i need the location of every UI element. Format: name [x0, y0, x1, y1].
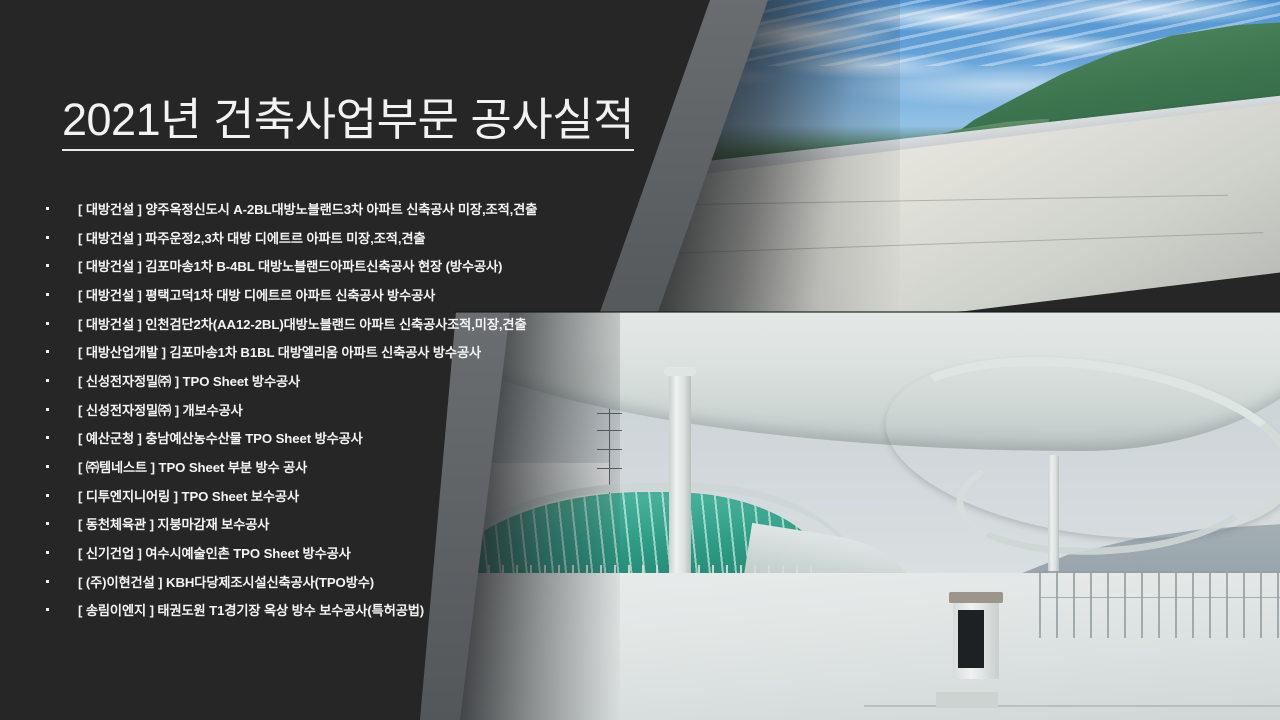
list-item: [ 디투엔지니어링 ] TPO Sheet 보수공사 [0, 481, 620, 510]
hvac-outdoor-unit [953, 601, 999, 679]
list-item-label: [ 신기건업 ] 여수시예술인촌 TPO Sheet 방수공사 [78, 543, 351, 562]
content-panel: 2021년 건축사업부문 공사실적 [ 대방건설 ] 양주옥정신도시 A-2BL… [0, 0, 640, 720]
list-item-label: [ 대방건설 ] 인천검단2차(AA12-2BL)대방노블랜드 아파트 신축공사… [78, 314, 526, 333]
bullet-marker-icon [46, 436, 49, 439]
bullet-marker-icon [46, 264, 49, 267]
list-item-label: [ 신성전자정밀㈜ ] TPO Sheet 방수공사 [78, 371, 300, 390]
list-item: [ 송림이엔지 ] 태권도원 T1경기장 옥상 방수 보수공사(특허공법) [0, 596, 620, 625]
bullet-marker-icon [46, 494, 49, 497]
list-item: [ 신성전자정밀㈜ ] TPO Sheet 방수공사 [0, 366, 620, 395]
deck-railing [1039, 571, 1280, 638]
list-item: [ 동천체육관 ] 지붕마감재 보수공사 [0, 510, 620, 539]
list-item-label: [ 송림이엔지 ] 태권도원 T1경기장 옥상 방수 보수공사(특허공법) [78, 600, 424, 619]
bullet-marker-icon [46, 379, 49, 382]
hvac-concrete-base [936, 692, 998, 708]
hvac-grille [958, 610, 984, 668]
list-item-label: [ 대방건설 ] 양주옥정신도시 A-2BL대방노블랜드3차 아파트 신축공사 … [78, 199, 537, 218]
list-item-label: [ (주)이현건설 ] KBH다당제조시설신축공사(TPO방수) [78, 572, 374, 591]
presentation-slide: 2021년 건축사업부문 공사실적 [ 대방건설 ] 양주옥정신도시 A-2BL… [0, 0, 1280, 720]
page-title: 2021년 건축사업부문 공사실적 [62, 96, 634, 151]
list-item-label: [ 대방산업개발 ] 김포마송1차 B1BL 대방엘리움 아파트 신축공사 방수… [78, 342, 481, 361]
bullet-marker-icon [46, 408, 49, 411]
bullet-marker-icon [46, 522, 49, 525]
hvac-cover [949, 592, 1003, 603]
list-item: [ 예산군청 ] 충남예산농수산물 TPO Sheet 방수공사 [0, 424, 620, 453]
list-item: [ 대방건설 ] 양주옥정신도시 A-2BL대방노블랜드3차 아파트 신축공사 … [0, 194, 620, 223]
list-item: [ ㈜템네스트 ] TPO Sheet 부분 방수 공사 [0, 452, 620, 481]
bullet-marker-icon [46, 465, 49, 468]
list-item: [ 대방건설 ] 인천검단2차(AA12-2BL)대방노블랜드 아파트 신축공사… [0, 309, 620, 338]
list-item-label: [ 예산군청 ] 충남예산농수산물 TPO Sheet 방수공사 [78, 428, 363, 447]
list-item-label: [ 신성전자정밀㈜ ] 개보수공사 [78, 400, 243, 419]
list-item: [ 신성전자정밀㈜ ] 개보수공사 [0, 395, 620, 424]
list-item: [ 대방산업개발 ] 김포마송1차 B1BL 대방엘리움 아파트 신축공사 방수… [0, 337, 620, 366]
bullet-marker-icon [46, 293, 49, 296]
list-item-label: [ 대방건설 ] 김포마송1차 B-4BL 대방노블랜드아파트신축공사 현장 (… [78, 256, 502, 275]
bullet-marker-icon [46, 236, 49, 239]
project-list: [ 대방건설 ] 양주옥정신도시 A-2BL대방노블랜드3차 아파트 신축공사 … [0, 194, 620, 624]
deck-seam [864, 705, 1280, 707]
list-item: [ 대방건설 ] 김포마송1차 B-4BL 대방노블랜드아파트신축공사 현장 (… [0, 251, 620, 280]
list-item-label: [ ㈜템네스트 ] TPO Sheet 부분 방수 공사 [78, 457, 307, 476]
list-item: [ 신기건업 ] 여수시예술인촌 TPO Sheet 방수공사 [0, 538, 620, 567]
list-item-label: [ 대방건설 ] 평택고덕1차 대방 디에트르 아파트 신축공사 방수공사 [78, 285, 435, 304]
bullet-marker-icon [46, 322, 49, 325]
bullet-marker-icon [46, 207, 49, 210]
list-item-label: [ 대방건설 ] 파주운정2,3차 대방 디에트르 아파트 미장,조적,견출 [78, 228, 425, 247]
list-item-label: [ 동천체육관 ] 지붕마감재 보수공사 [78, 514, 269, 533]
bullet-marker-icon [46, 608, 49, 611]
bullet-marker-icon [46, 580, 49, 583]
list-item: [ 대방건설 ] 평택고덕1차 대방 디에트르 아파트 신축공사 방수공사 [0, 280, 620, 309]
bullet-marker-icon [46, 350, 49, 353]
column-capital [664, 367, 696, 376]
list-item: [ (주)이현건설 ] KBH다당제조시설신축공사(TPO방수) [0, 567, 620, 596]
deck-railing-top-rail [1039, 597, 1280, 598]
list-item: [ 대방건설 ] 파주운정2,3차 대방 디에트르 아파트 미장,조적,견출 [0, 223, 620, 252]
list-item-label: [ 디투엔지니어링 ] TPO Sheet 보수공사 [78, 486, 299, 505]
bullet-marker-icon [46, 551, 49, 554]
